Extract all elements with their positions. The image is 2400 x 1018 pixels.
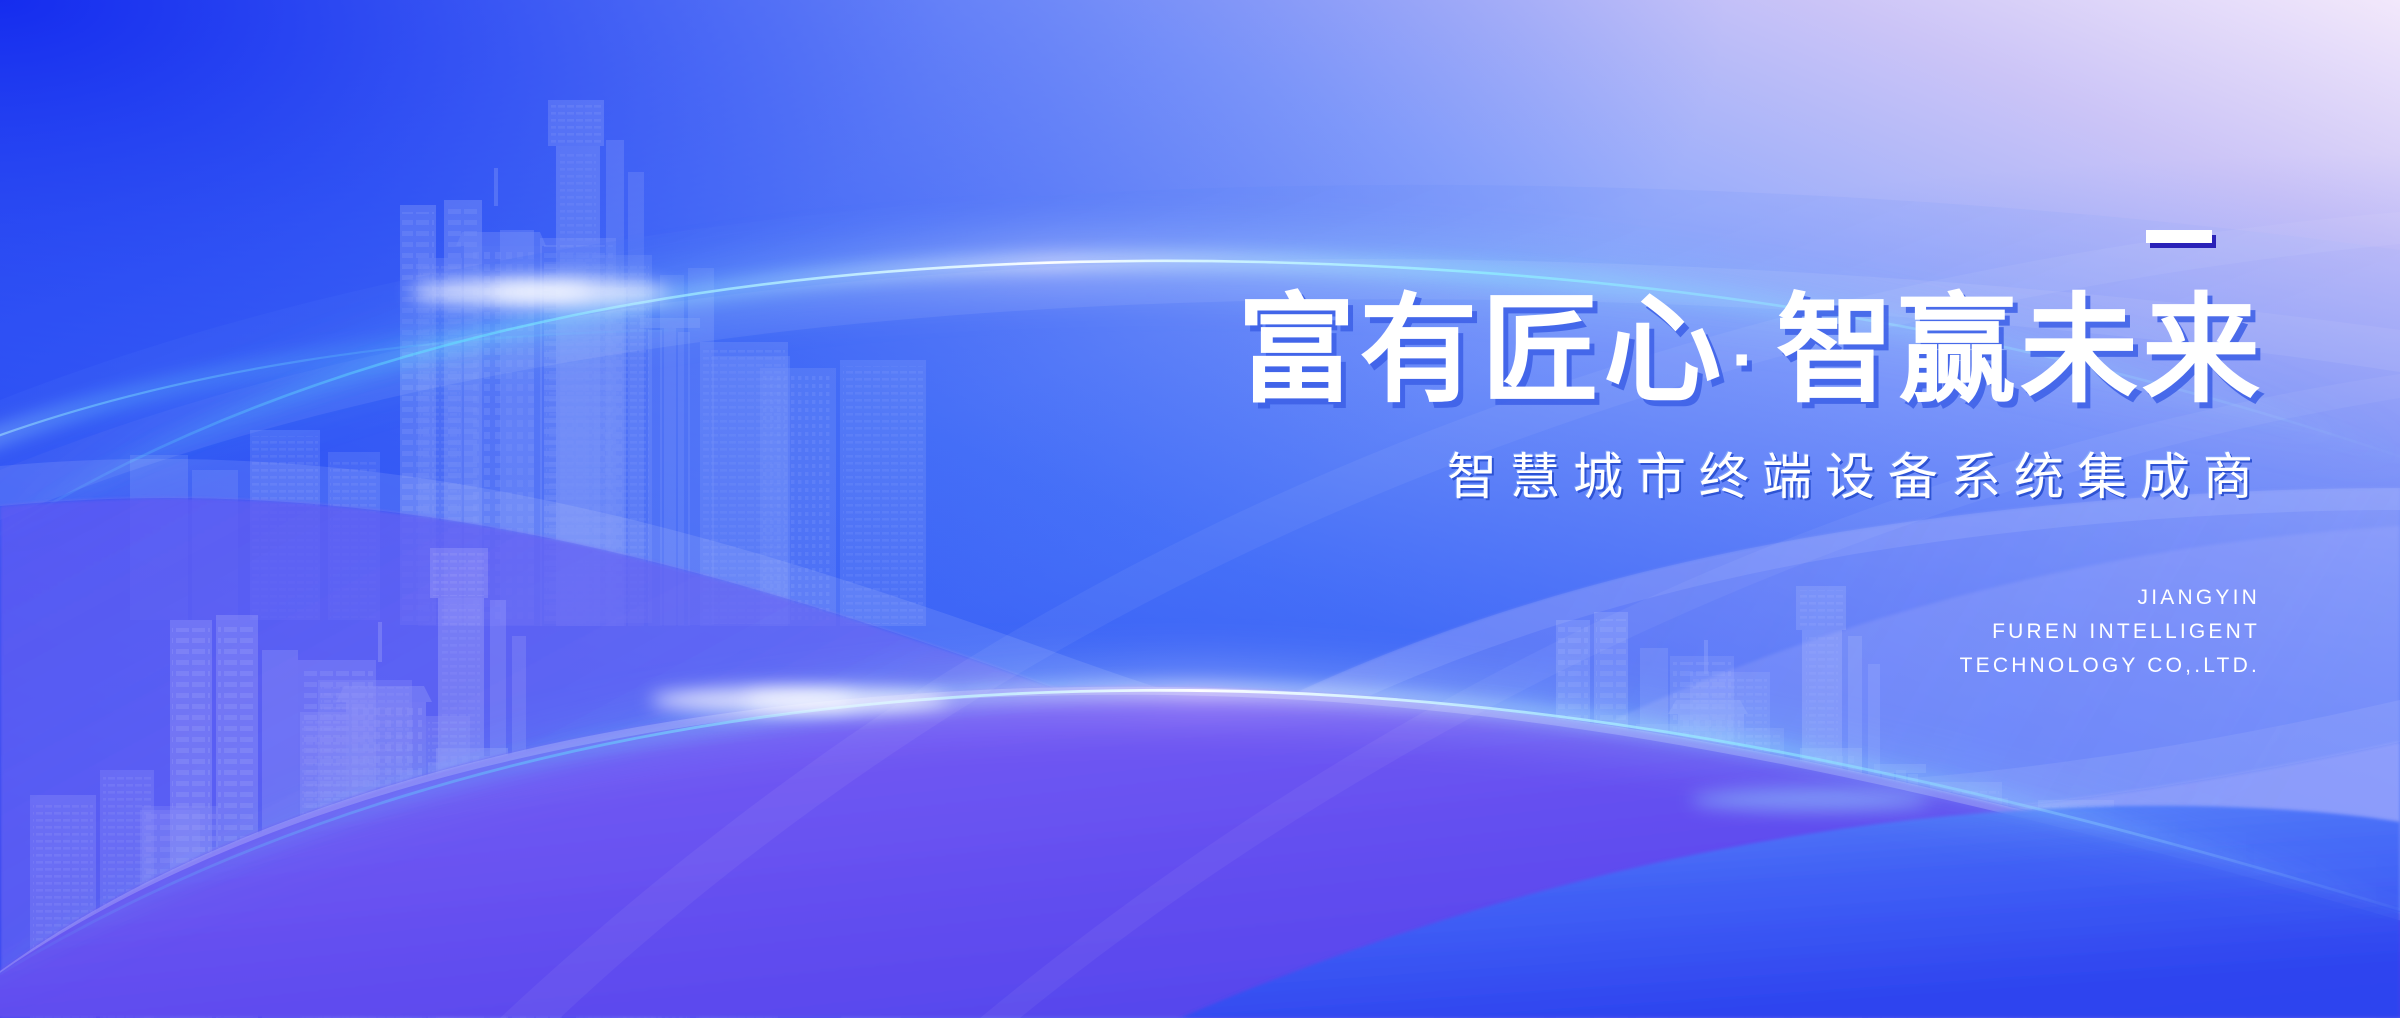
- headline-right-text: 智赢未来: [1776, 285, 2264, 417]
- headline-left-text: 富有匠心: [1237, 285, 1725, 417]
- company-line-3: TECHNOLOGY CO,.LTD.: [1000, 649, 2260, 683]
- page-title: 富有匠心·智赢未来: [1000, 288, 2270, 415]
- company-name-block: JIANGYIN FUREN INTELLIGENT TECHNOLOGY CO…: [1000, 581, 2270, 683]
- headline-block: 富有匠心·智赢未来 智慧城市终端设备系统集成商 JIANGYIN FUREN I…: [1000, 230, 2270, 683]
- dash-accent-mark: [2146, 230, 2212, 243]
- subtitle: 智慧城市终端设备系统集成商: [1000, 437, 2270, 509]
- headline-separator: ·: [1725, 318, 1776, 401]
- promotional-banner: 富有匠心·智赢未来 智慧城市终端设备系统集成商 JIANGYIN FUREN I…: [0, 0, 2400, 1018]
- company-line-2: FUREN INTELLIGENT: [1000, 615, 2260, 649]
- company-line-1: JIANGYIN: [1000, 581, 2260, 615]
